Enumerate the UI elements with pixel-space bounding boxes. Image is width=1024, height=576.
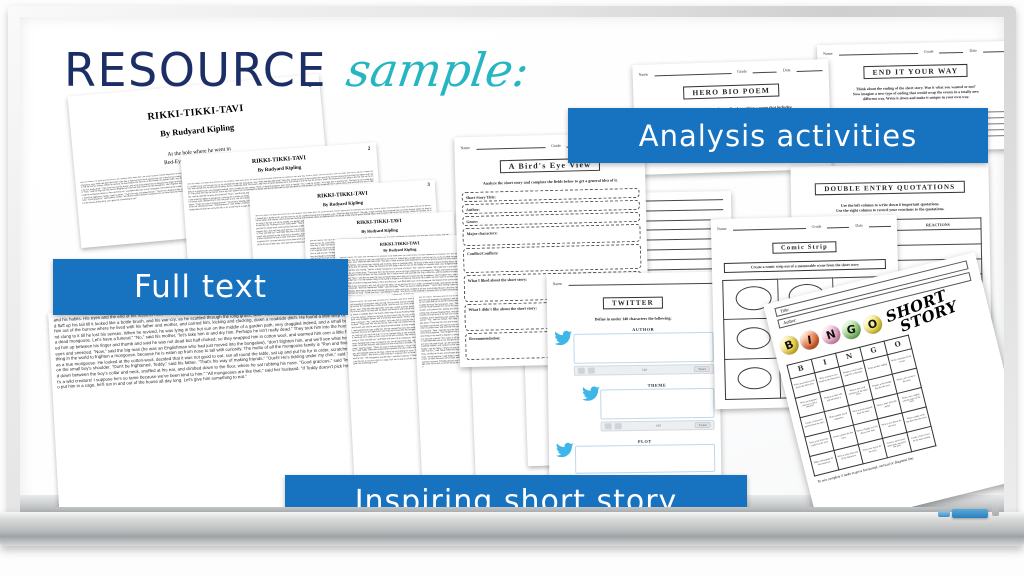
twitter-author-toolbar[interactable]: 140 Tweet xyxy=(574,364,714,376)
banner-full-text[interactable]: Full text xyxy=(53,259,348,315)
worksheet-title: Comic Strip xyxy=(772,241,837,254)
worksheet-title: END IT YOUR WAY xyxy=(863,64,967,79)
location-pin-icon[interactable] xyxy=(615,423,622,429)
whiteboard-surface: 1 RIKKI-TIKKI-TAVI By Rudyard Kipling At… xyxy=(20,17,1004,507)
whiteboard-tray xyxy=(0,512,1024,546)
eraser[interactable] xyxy=(952,509,988,518)
field-label-date: Date xyxy=(783,67,791,72)
field-label-grade: Grade xyxy=(737,69,747,74)
twitter-bird-icon xyxy=(554,442,576,458)
field-major-characters[interactable]: Major characters: xyxy=(462,224,640,246)
page-number: 2 xyxy=(368,147,371,152)
bingo-ball-i: I xyxy=(799,329,820,350)
headline-primary: RESOURCE xyxy=(64,43,327,97)
whiteboard-scene: 1 RIKKI-TIKKI-TAVI By Rudyard Kipling At… xyxy=(0,0,1024,576)
char-counter: 140 xyxy=(656,424,661,428)
worksheet-instruction: Create a comic strip out of a memorable … xyxy=(724,259,886,273)
banner-label: Inspiring short story xyxy=(355,484,678,507)
field-label-name: Name xyxy=(823,51,833,56)
bingo-ball-g: G xyxy=(841,319,862,340)
banner-label: Full text xyxy=(134,269,267,305)
field-label-name: Name xyxy=(639,72,649,77)
worksheet-instruction: Analyze the short story and complete the… xyxy=(455,177,645,187)
camera-icon[interactable] xyxy=(605,423,612,429)
field-label-name: Name xyxy=(717,226,727,231)
field-label-name: Name xyxy=(460,145,470,150)
twitter-bird-icon xyxy=(552,330,574,346)
field-label-grade: Grade xyxy=(924,49,934,54)
page-title: RESOURCE sample: xyxy=(64,43,529,97)
field-label-grade: Grade xyxy=(812,224,822,229)
banner-analysis-activities[interactable]: Analysis activities xyxy=(568,108,988,163)
twitter-theme-toolbar[interactable]: 140 Tweet xyxy=(601,420,715,432)
twitter-bird-icon xyxy=(580,385,602,401)
field-conflicts[interactable]: Conflict/Conflicts: xyxy=(463,244,642,273)
twitter-plot-input[interactable] xyxy=(575,444,715,474)
twitter-theme-input[interactable] xyxy=(600,388,714,420)
camera-icon[interactable] xyxy=(578,368,585,374)
headline-secondary: sample: xyxy=(344,43,533,97)
location-pin-icon[interactable] xyxy=(588,368,595,374)
field-label-date: Date xyxy=(855,223,863,228)
worksheet-instruction: Define in under 140 characters the follo… xyxy=(547,315,719,322)
tweet-button[interactable]: Tweet xyxy=(695,422,711,428)
worksheet-twitter[interactable]: Name TWITTER Define in under 140 charact… xyxy=(547,272,722,489)
field-label-grade: Grade xyxy=(551,143,561,148)
comic-cell[interactable] xyxy=(724,359,781,400)
field-label-date: Date xyxy=(969,48,977,53)
char-counter: 140 xyxy=(642,368,647,372)
worksheet-title: TWITTER xyxy=(603,297,663,310)
banner-label: Analysis activities xyxy=(639,119,917,153)
whiteboard-frame: 1 RIKKI-TIKKI-TAVI By Rudyard Kipling At… xyxy=(8,6,1016,518)
field-label-name: Name xyxy=(553,281,563,286)
tweet-button[interactable]: Tweet xyxy=(694,366,710,372)
marker[interactable] xyxy=(938,511,950,517)
page-number: 3 xyxy=(427,183,430,188)
bingo-ball-b: B xyxy=(777,333,802,358)
tray-peg xyxy=(992,500,999,516)
twitter-author-input[interactable] xyxy=(573,332,713,364)
worksheet-title: HERO BIO POEM xyxy=(683,84,779,100)
bingo-ball-o: O xyxy=(860,312,884,336)
worksheet-title: DOUBLE ENTRY QUOTATIONS xyxy=(815,181,964,196)
bingo-ball-n: N xyxy=(819,323,843,347)
banner-inspiring-short-story[interactable]: Inspiring short story xyxy=(285,475,747,507)
